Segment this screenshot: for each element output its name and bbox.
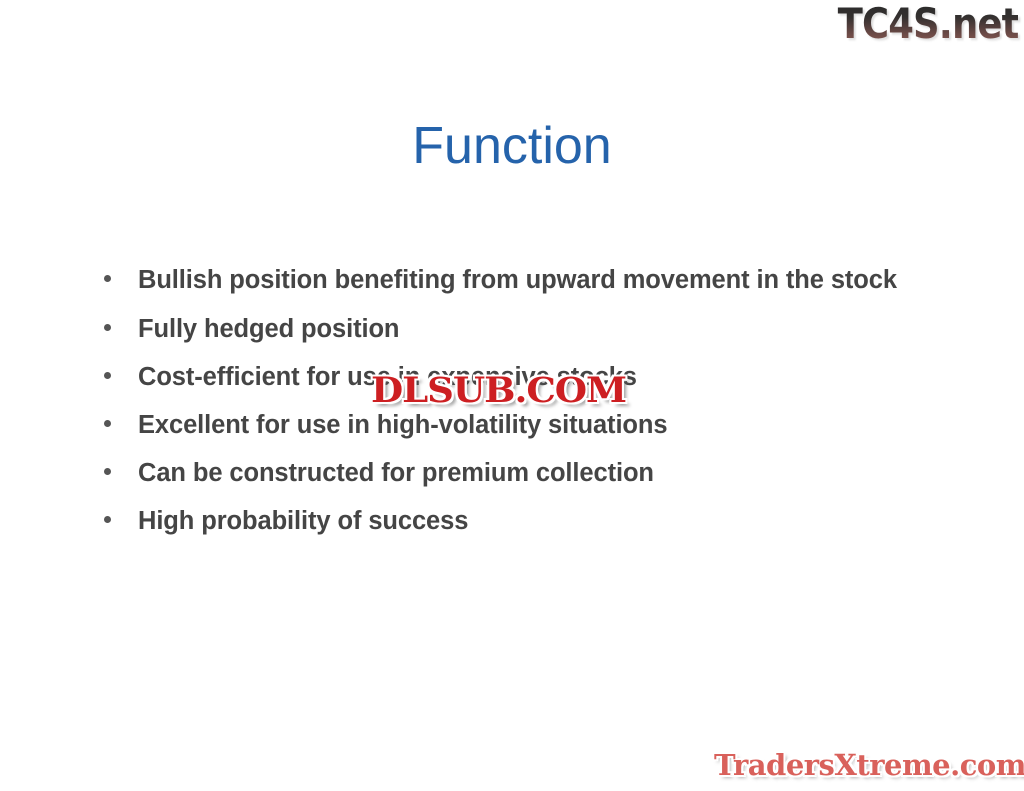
list-item: High probability of success <box>96 503 926 539</box>
list-item: Excellent for use in high-volatility sit… <box>96 407 926 443</box>
page-title: Function <box>0 116 1024 176</box>
tc4s-brand-logo: TC4S.net <box>837 2 1018 46</box>
list-item-label: Excellent for use in high-volatility sit… <box>138 411 667 439</box>
list-item: Fully hedged position <box>96 311 926 347</box>
bullet-dot-icon <box>104 420 111 427</box>
bullet-dot-icon <box>104 275 111 282</box>
bullet-dot-icon <box>104 324 111 331</box>
list-item: Bullish position benefiting from upward … <box>96 262 926 298</box>
list-item-label: Bullish position benefiting from upward … <box>138 266 897 294</box>
tradersxtreme-watermark: TradersXtreme.com <box>714 748 1024 782</box>
bullet-dot-icon <box>104 516 111 523</box>
list-item-label: Fully hedged position <box>138 315 399 343</box>
list-item: Can be constructed for premium collectio… <box>96 455 926 491</box>
presentation-slide: TC4S.net TC4S.net Function Bullish posit… <box>0 0 1024 791</box>
dlsub-watermark: DLSUB.COM <box>371 372 626 410</box>
bullet-dot-icon <box>104 372 111 379</box>
list-item-label: High probability of success <box>138 507 468 535</box>
list-item-label: Can be constructed for premium collectio… <box>138 459 654 487</box>
bullet-dot-icon <box>104 468 111 475</box>
